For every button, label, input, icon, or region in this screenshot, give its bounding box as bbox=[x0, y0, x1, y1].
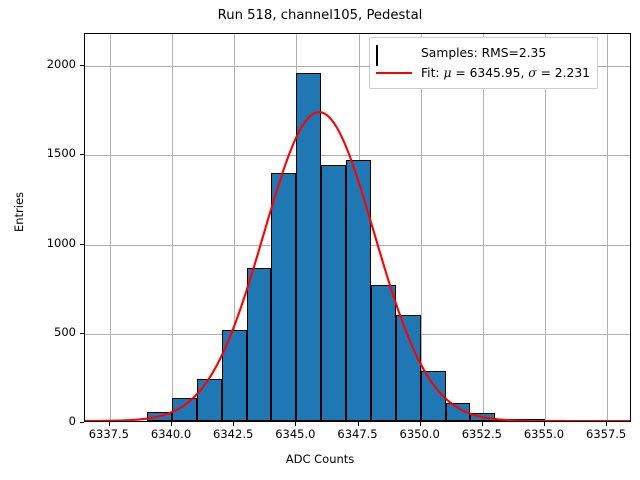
x-tick-mark bbox=[606, 422, 607, 426]
x-tick-mark bbox=[295, 422, 296, 426]
x-tick-mark bbox=[420, 422, 421, 426]
legend: Samples: RMS=2.35 Fit: μ = 6345.95, σ = … bbox=[369, 37, 598, 89]
histogram-figure: Run 518, channel105, Pedestal 6337.56340… bbox=[0, 0, 640, 480]
x-axis-label: ADC Counts bbox=[0, 452, 640, 466]
y-tick-label: 0 bbox=[16, 414, 76, 428]
y-tick-mark bbox=[80, 244, 84, 245]
x-tick-mark bbox=[544, 422, 545, 426]
gaussian-fit-curve bbox=[85, 34, 630, 421]
plot-clip bbox=[85, 34, 630, 421]
legend-patch-icon bbox=[376, 46, 412, 60]
legend-fit-sigma-value: = 2.231 bbox=[537, 66, 590, 80]
x-tick-mark bbox=[482, 422, 483, 426]
legend-fit-mu-value: = 6345.95, bbox=[451, 66, 528, 80]
legend-line-icon bbox=[376, 66, 412, 80]
y-tick-mark bbox=[80, 333, 84, 334]
y-tick-mark bbox=[80, 422, 84, 423]
y-axis-label: Entries bbox=[12, 162, 26, 262]
legend-fit-prefix: Fit: bbox=[421, 66, 443, 80]
plot-area bbox=[84, 33, 631, 422]
legend-item-fit: Fit: μ = 6345.95, σ = 2.231 bbox=[376, 63, 590, 83]
y-tick-label: 500 bbox=[16, 325, 76, 339]
y-tick-label: 1500 bbox=[16, 146, 76, 160]
x-tick-mark bbox=[233, 422, 234, 426]
x-tick-mark bbox=[171, 422, 172, 426]
y-tick-mark bbox=[80, 154, 84, 155]
sigma-symbol: σ bbox=[528, 66, 536, 80]
x-tick-label: 6357.5 bbox=[561, 427, 640, 441]
legend-item-samples: Samples: RMS=2.35 bbox=[376, 43, 590, 63]
x-tick-mark bbox=[358, 422, 359, 426]
legend-label-samples: Samples: RMS=2.35 bbox=[421, 46, 546, 60]
y-tick-mark bbox=[80, 65, 84, 66]
page-title: Run 518, channel105, Pedestal bbox=[0, 8, 640, 23]
x-tick-mark bbox=[109, 422, 110, 426]
legend-label-fit: Fit: μ = 6345.95, σ = 2.231 bbox=[421, 66, 590, 80]
y-tick-label: 2000 bbox=[16, 57, 76, 71]
